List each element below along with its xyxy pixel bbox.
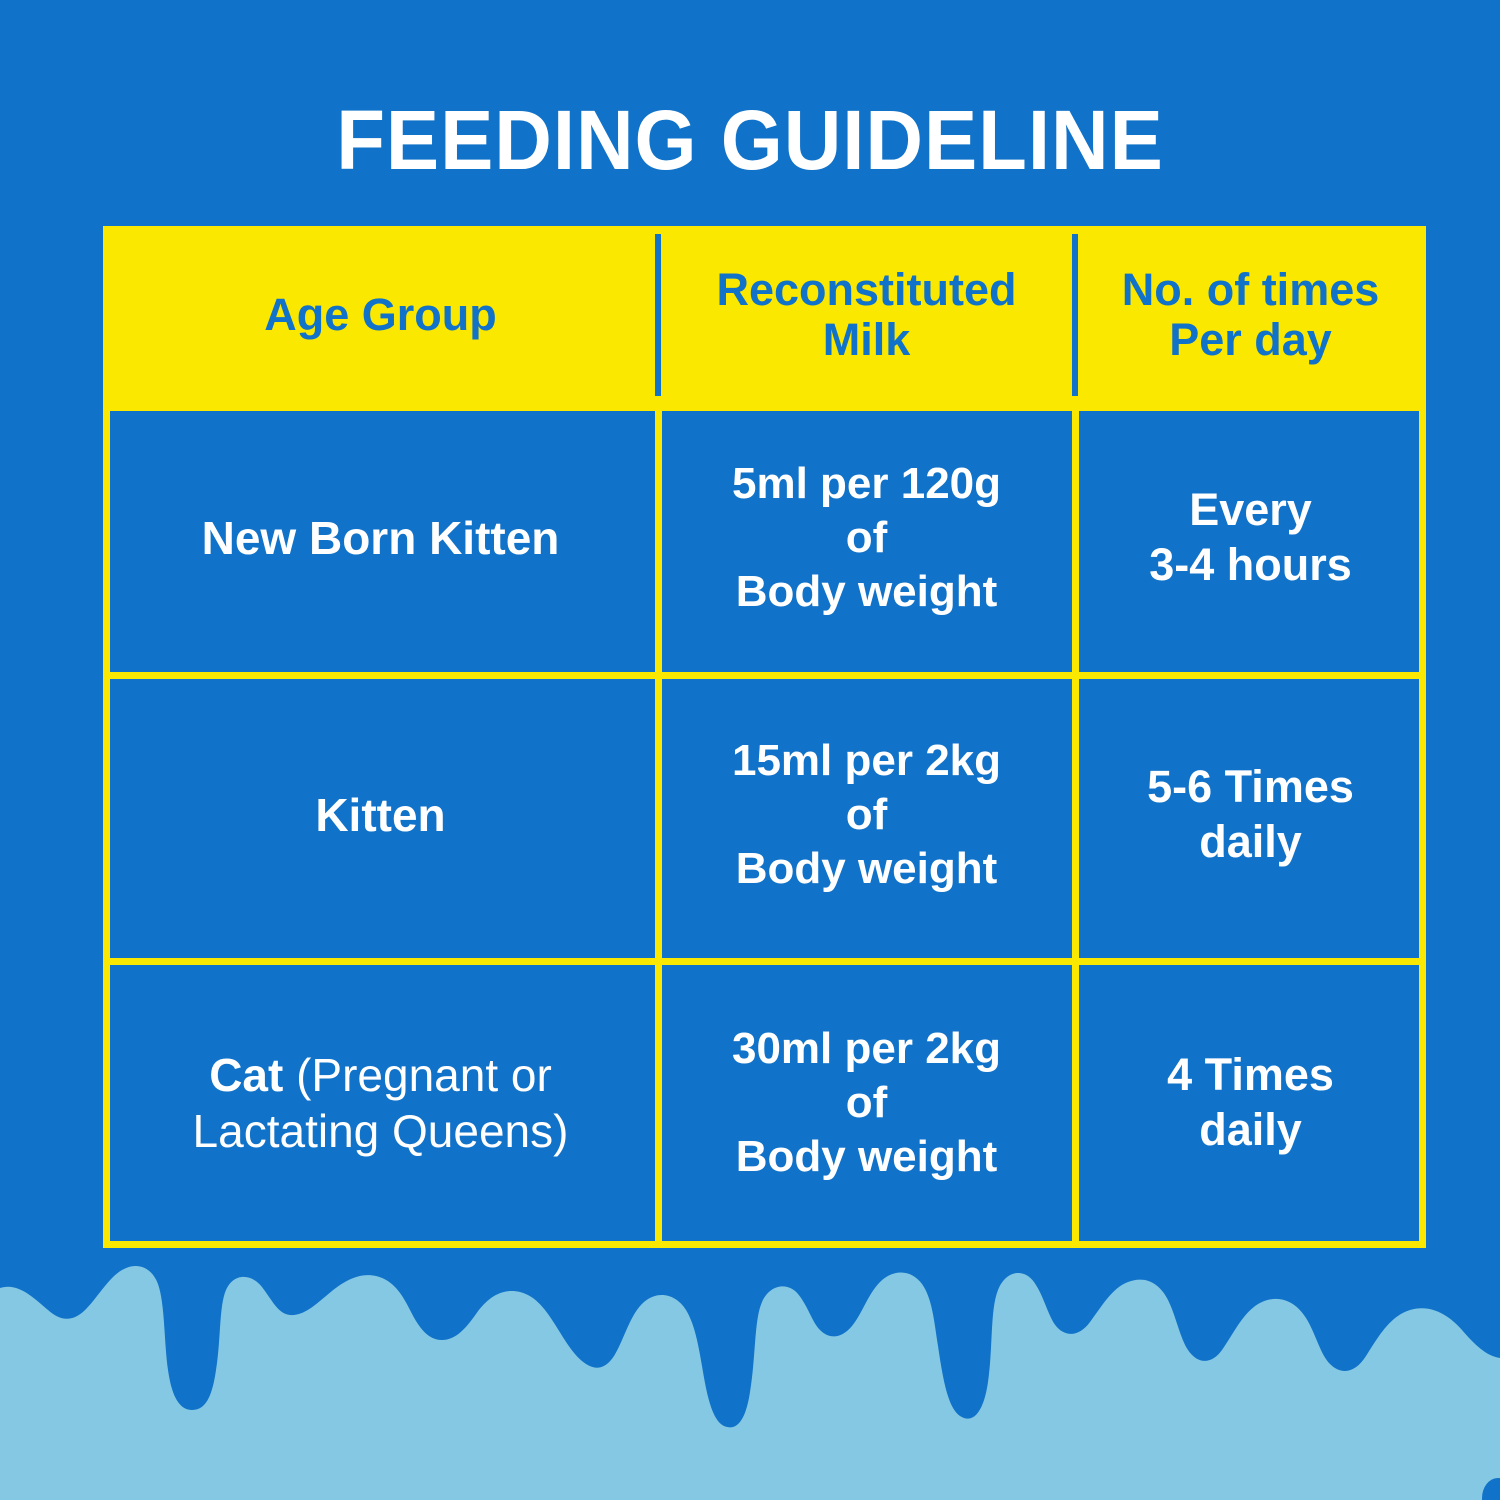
column-header-reconstituted-milk-label: Reconstituted Milk bbox=[716, 265, 1016, 366]
feeding-guideline-table: Age Group Reconstituted Milk No. of time… bbox=[103, 226, 1426, 1248]
cell-age-group: Kitten bbox=[315, 787, 445, 843]
header-line-1: No. of times bbox=[1122, 264, 1380, 315]
cell-times-per-day: 4 Times daily bbox=[1167, 1048, 1334, 1158]
table-grid: Age Group Reconstituted Milk No. of time… bbox=[103, 226, 1426, 1248]
cell-age-group-light-line-2: Lactating Queens) bbox=[193, 1105, 569, 1157]
milk-line-1: 15ml per 2kg bbox=[732, 736, 1001, 785]
column-header-reconstituted-milk: Reconstituted Milk bbox=[658, 226, 1075, 404]
times-line-2: daily bbox=[1199, 1104, 1302, 1155]
feeding-guideline-poster: FEEDING GUIDELINE Age Group Reconstitute… bbox=[0, 0, 1500, 1500]
milk-line-2: of bbox=[846, 513, 888, 562]
milk-drip-graphic bbox=[0, 1170, 1500, 1500]
milk-line-1: 30ml per 2kg bbox=[732, 1024, 1001, 1073]
milk-line-3: Body weight bbox=[736, 567, 998, 616]
cell-times-per-day: 5-6 Times daily bbox=[1147, 760, 1354, 870]
cell-reconstituted-milk: 15ml per 2kg of Body weight bbox=[732, 734, 1001, 895]
cell-times-per-day: Every 3-4 hours bbox=[1149, 483, 1352, 593]
table-row: Kitten bbox=[103, 672, 658, 958]
milk-line-2: of bbox=[846, 1078, 888, 1127]
times-line-1: 4 Times bbox=[1167, 1049, 1334, 1100]
cell-age-group: Cat (Pregnant or Lactating Queens) bbox=[193, 1047, 569, 1159]
times-line-2: daily bbox=[1199, 816, 1302, 867]
header-line-2: Milk bbox=[823, 314, 911, 365]
cell-reconstituted-milk: 30ml per 2kg of Body weight bbox=[732, 1022, 1001, 1183]
times-line-1: Every bbox=[1189, 484, 1312, 535]
header-line-1: Reconstituted bbox=[716, 264, 1016, 315]
milk-line-3: Body weight bbox=[736, 844, 998, 893]
cell-age-group-strong: Cat bbox=[209, 1049, 283, 1101]
times-line-1: 5-6 Times bbox=[1147, 761, 1354, 812]
table-row: 15ml per 2kg of Body weight bbox=[658, 672, 1075, 958]
table-row: 5ml per 120g of Body weight bbox=[658, 404, 1075, 672]
cell-reconstituted-milk: 5ml per 120g of Body weight bbox=[732, 457, 1001, 618]
page-title: FEEDING GUIDELINE bbox=[38, 98, 1463, 182]
column-header-age-group-label: Age Group bbox=[264, 290, 497, 340]
times-line-2: 3-4 hours bbox=[1149, 539, 1352, 590]
cell-age-group: New Born Kitten bbox=[202, 510, 560, 566]
column-header-age-group: Age Group bbox=[103, 226, 658, 404]
table-row: 5-6 Times daily bbox=[1075, 672, 1426, 958]
table-row: New Born Kitten bbox=[103, 404, 658, 672]
table-row: Every 3-4 hours bbox=[1075, 404, 1426, 672]
header-line-2: Per day bbox=[1169, 314, 1332, 365]
milk-line-2: of bbox=[846, 790, 888, 839]
cell-age-group-light-line-1: (Pregnant or bbox=[283, 1049, 551, 1101]
column-header-times-per-day: No. of times Per day bbox=[1075, 226, 1426, 404]
milk-line-1: 5ml per 120g bbox=[732, 459, 1001, 508]
column-header-times-per-day-label: No. of times Per day bbox=[1122, 265, 1380, 366]
milk-drip-path bbox=[0, 1266, 1500, 1500]
